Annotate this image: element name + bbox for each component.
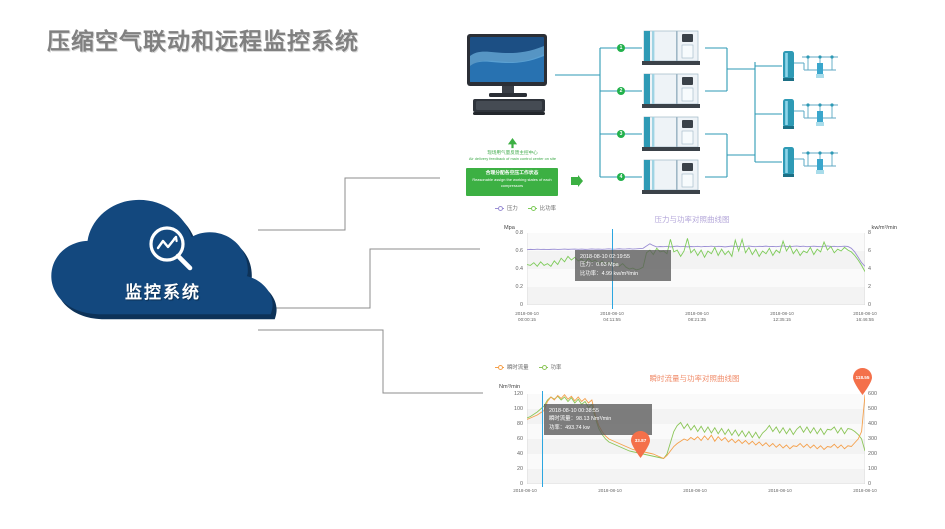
monitoring-cloud[interactable]: 监控系统	[38, 196, 288, 326]
flow-ytick-1: 100	[501, 406, 523, 412]
pressure-tooltip-row-0: 压力：0.63 Mpa	[580, 261, 666, 269]
pressure-ytick-0: 0.8	[501, 230, 523, 236]
pressure-xtick-2: 2018-08-10 08:21:35	[667, 311, 727, 322]
pressure-xtick-1: 2018-08-10 04:11:55	[582, 311, 642, 322]
pressure-xtick-0: 2018-08-10 00:00:15	[497, 311, 557, 322]
air-tank-group-3	[782, 145, 844, 181]
pressure-y2tick-4: 0	[868, 302, 882, 308]
legend-item-pressure[interactable]: 压力	[495, 204, 518, 212]
connector-to-pressure-chart	[258, 249, 480, 308]
pressure-chart[interactable]: 压力 比功率 压力与功率对照曲线图 Mpa kw/m³/min 2018-08-	[487, 203, 897, 335]
legend-swatch-instant-flow	[495, 367, 504, 368]
flow-ytick-4: 40	[501, 451, 523, 457]
site-caption-en: Air delivery feedback of main control ce…	[445, 156, 580, 161]
compressor-node-1[interactable]: 1	[617, 44, 625, 52]
air-tank-group-2	[782, 97, 844, 133]
cloud-label: 监控系统	[38, 278, 288, 303]
legend-label-specific-power: 比功率	[540, 204, 556, 212]
pressure-xtick-4: 2018-08-10 16:46:55	[835, 311, 895, 322]
legend-label-power: 功率	[551, 363, 562, 371]
pressure-xtick-4-time: 16:46:55	[835, 317, 895, 323]
air-compressor-4	[642, 158, 700, 196]
compressor-node-4[interactable]: 4	[617, 173, 625, 181]
pressure-ytick-1: 0.6	[501, 248, 523, 254]
pressure-chart-title: 压力与功率对照曲线图	[487, 214, 897, 225]
legend-swatch-specific-power	[528, 208, 537, 209]
legend-item-specific-power[interactable]: 比功率	[528, 204, 556, 212]
pressure-ytick-3: 0.2	[501, 284, 523, 290]
pressure-chart-tooltip: 2018-08-10 02:19:55 压力：0.63 Mpa 比功率：4.99…	[575, 250, 671, 281]
pressure-y2tick-0: 8	[868, 230, 882, 236]
flow-y2tick-4: 200	[868, 451, 884, 457]
network-topology-diagram: 现场用气量反馈主控中心 Air delivery feedback of mai…	[437, 22, 937, 204]
flow-ytick-0: 120	[501, 391, 523, 397]
legend-swatch-pressure	[495, 208, 504, 209]
flow-chart[interactable]: 瞬时流量 功率 瞬时流量与功率对照曲线图 Nm³/min 2018-0	[487, 362, 902, 512]
compressor-node-2[interactable]: 2	[617, 87, 625, 95]
air-compressor-3	[642, 115, 700, 153]
pressure-ytick-2: 0.4	[501, 266, 523, 272]
presentation-slide: 压缩空气联动和远程监控系统 监控系统	[0, 0, 945, 529]
legend-item-instant-flow[interactable]: 瞬时流量	[495, 363, 529, 371]
air-compressor-1	[642, 29, 700, 67]
flow-y2tick-3: 300	[868, 436, 884, 442]
workload-allocation-box: 合理分配各空压工作状态 Reasonable assign the workin…	[466, 168, 558, 196]
legend-label-instant-flow: 瞬时流量	[507, 363, 529, 371]
pressure-ytick-4: 0	[501, 302, 523, 308]
compressor-node-3[interactable]: 3	[617, 130, 625, 138]
flow-xtick-1: 2018-08-10	[580, 488, 640, 494]
site-caption: 现场用气量反馈主控中心 Air delivery feedback of mai…	[445, 138, 580, 161]
flow-y-axis-unit: Nm³/min	[499, 384, 520, 390]
pressure-chart-legend[interactable]: 压力 比功率	[495, 204, 556, 212]
air-compressor-2	[642, 72, 700, 110]
flow-ytick-2: 80	[501, 421, 523, 427]
legend-label-pressure: 压力	[507, 204, 518, 212]
flow-marker-max-label: 118.55	[852, 375, 873, 380]
workload-box-en: Reasonable assign the working states of …	[466, 177, 558, 188]
pressure-y2tick-1: 6	[868, 248, 882, 254]
flow-y2tick-6: 0	[868, 481, 884, 487]
flow-xtick-3: 2018-08-10	[750, 488, 810, 494]
flow-marker-min[interactable]: 33.87	[630, 430, 651, 458]
pressure-xtick-1-time: 04:11:55	[582, 317, 642, 323]
flow-xtick-0: 2018-08-10	[495, 488, 555, 494]
flow-tooltip-timestamp: 2018-08-10 00:38:55	[549, 407, 647, 415]
pressure-xtick-3: 2018-08-10 12:35:15	[752, 311, 812, 322]
flow-ytick-3: 60	[501, 436, 523, 442]
air-tank-group-1	[782, 49, 844, 85]
green-right-arrow-icon	[570, 174, 584, 188]
pressure-y2tick-3: 2	[868, 284, 882, 290]
flow-y2tick-0: 600	[868, 391, 884, 397]
flow-ytick-6: 0	[501, 481, 523, 487]
pressure-xtick-2-time: 08:21:35	[667, 317, 727, 323]
flow-tooltip-row-0: 瞬时流量：98.13 Nm³/min	[549, 415, 647, 423]
pressure-y2tick-2: 4	[868, 266, 882, 272]
desktop-monitor-icon	[459, 32, 559, 122]
pressure-xtick-3-time: 12:35:15	[752, 317, 812, 323]
up-arrow-icon	[507, 138, 518, 149]
flow-chart-title: 瞬时流量与功率对照曲线图	[487, 373, 902, 384]
flow-chart-legend[interactable]: 瞬时流量 功率	[495, 363, 561, 371]
flow-y2tick-1: 500	[868, 406, 884, 412]
flow-xtick-2: 2018-08-10	[665, 488, 725, 494]
legend-swatch-power	[539, 367, 548, 368]
legend-item-power[interactable]: 功率	[539, 363, 562, 371]
flow-xtick-4: 2018-08-10	[835, 488, 895, 494]
flow-marker-min-label: 33.87	[630, 438, 651, 443]
pressure-xtick-0-time: 00:00:15	[497, 317, 557, 323]
pressure-tooltip-timestamp: 2018-08-10 02:19:55	[580, 253, 666, 261]
flow-ytick-5: 20	[501, 466, 523, 472]
connector-to-flow-chart	[258, 330, 483, 393]
magnifier-chart-icon	[144, 222, 200, 278]
flow-y2tick-5: 100	[868, 466, 884, 472]
pressure-tooltip-row-1: 比功率：4.99 kw/m³/min	[580, 270, 666, 278]
flow-y2tick-2: 400	[868, 421, 884, 427]
